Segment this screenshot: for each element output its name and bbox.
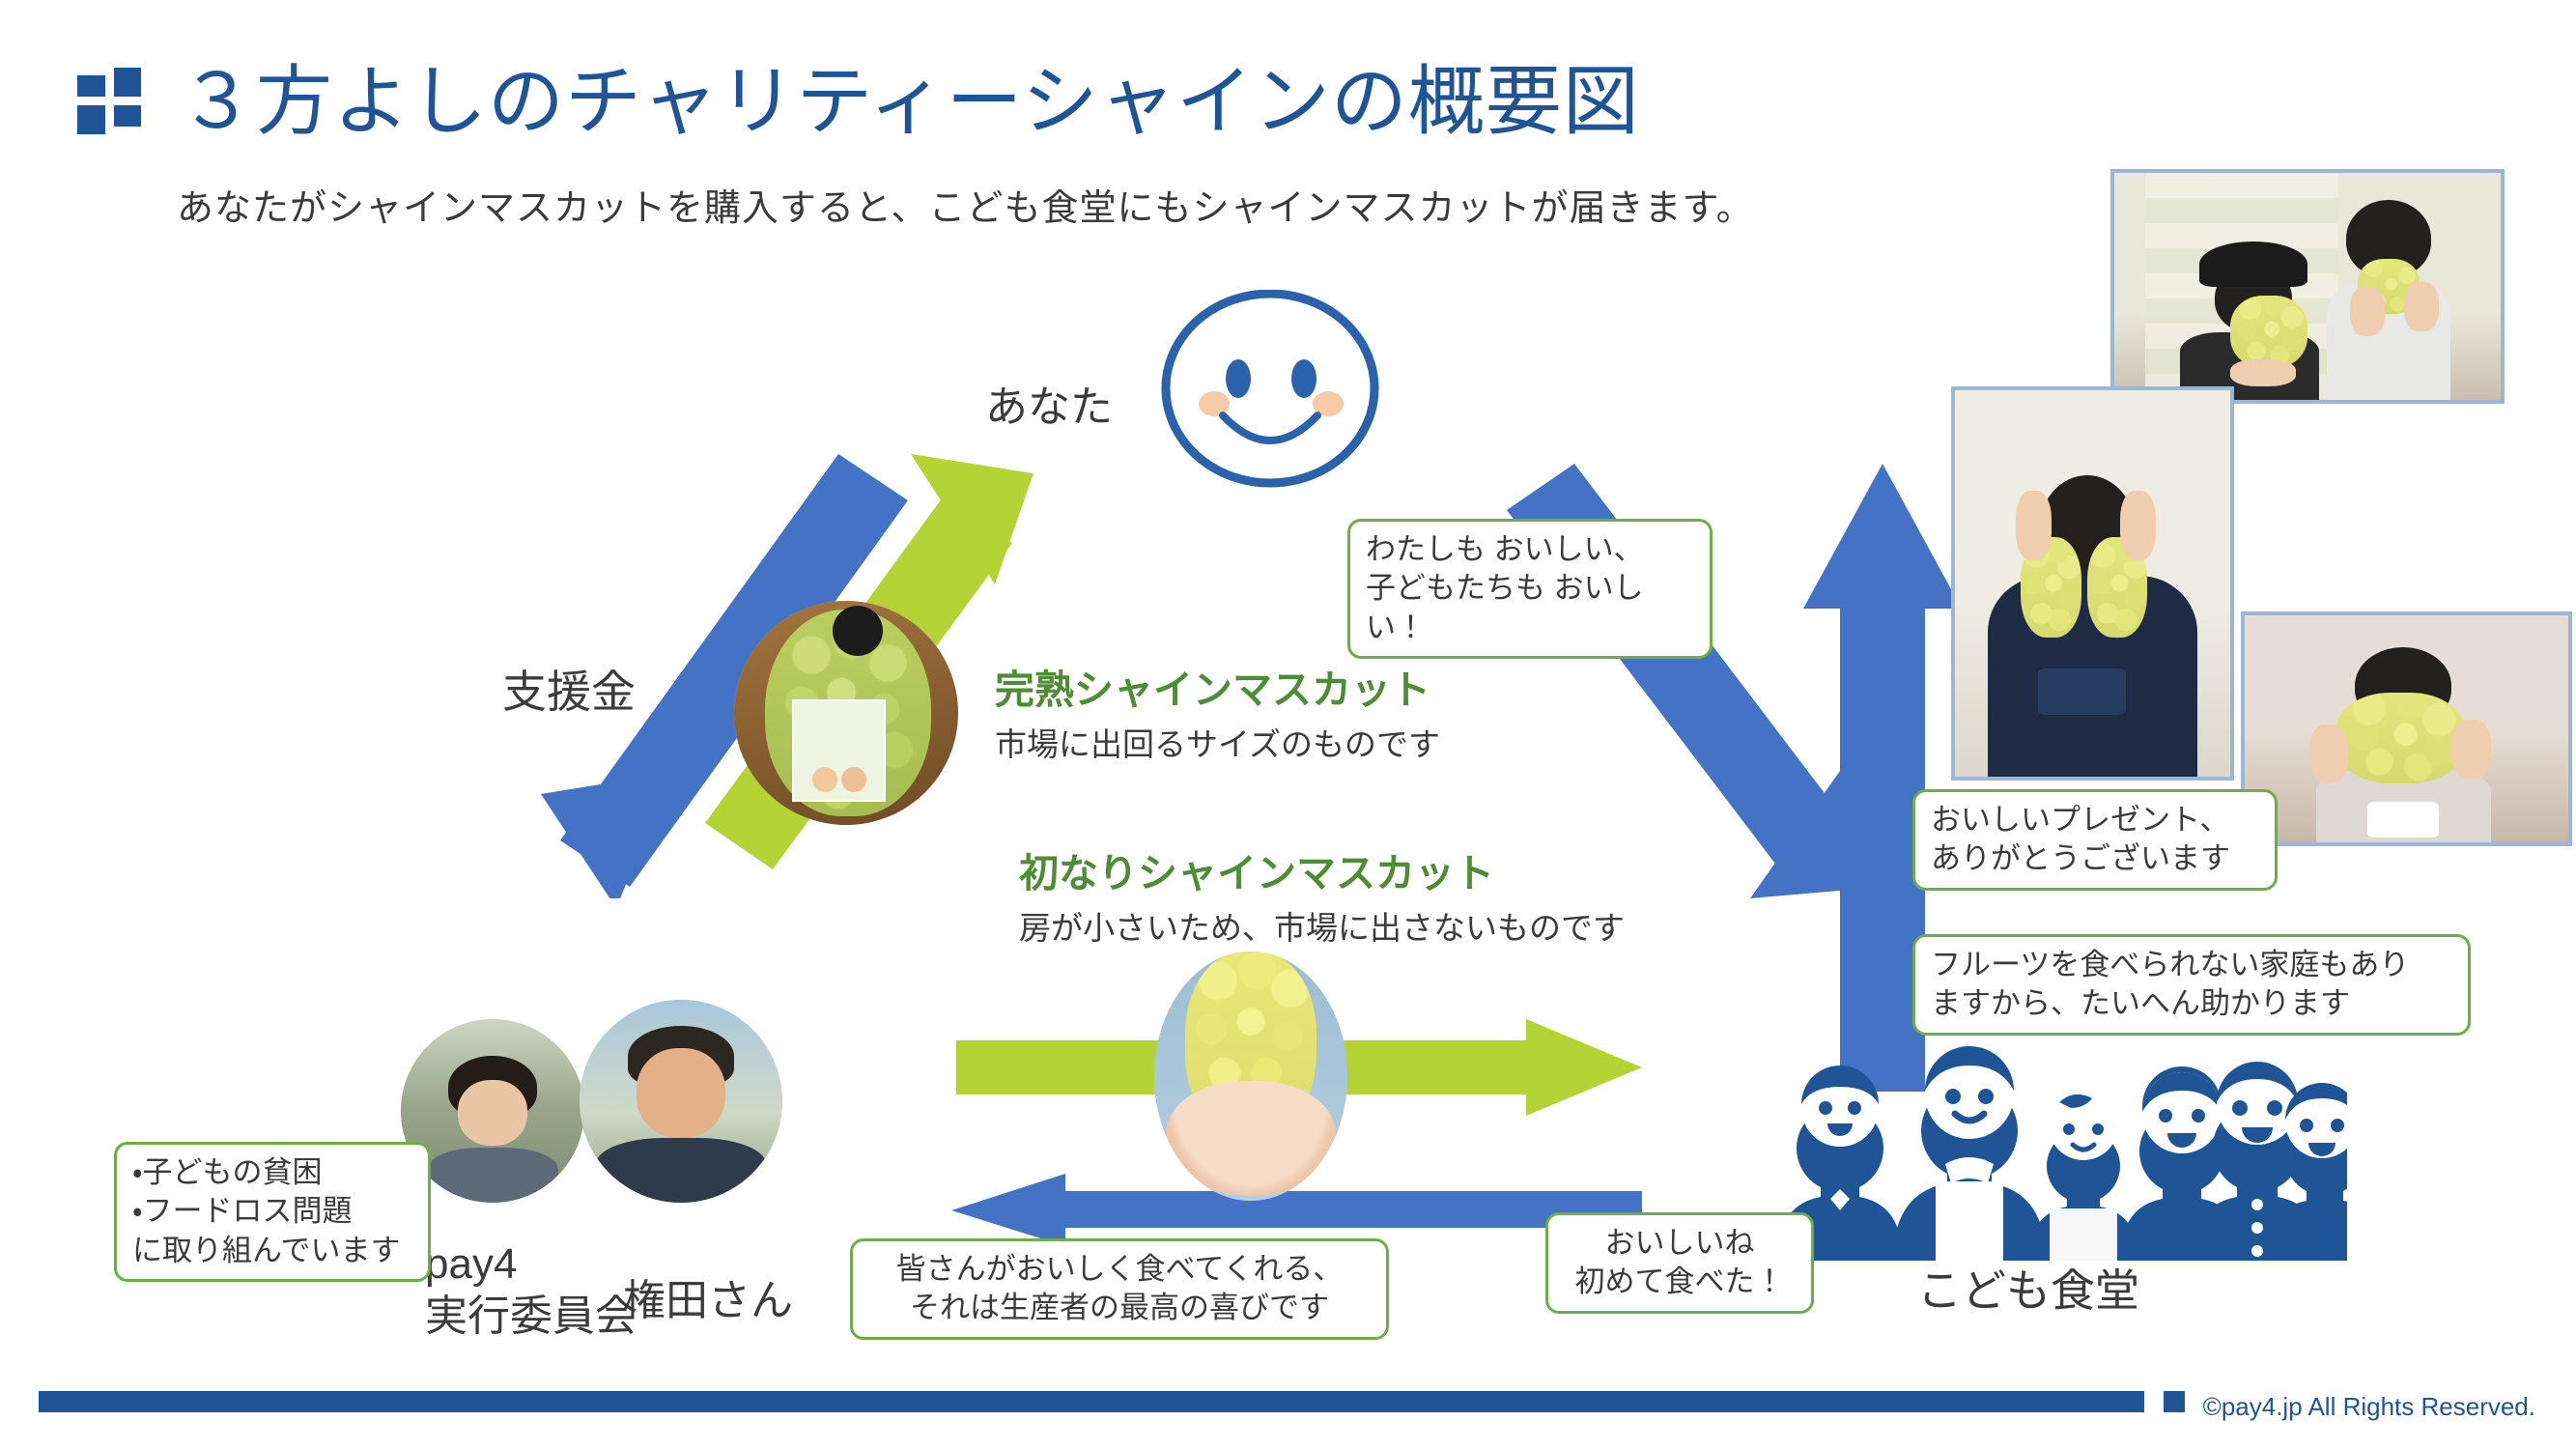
- product-title: 初なりシャインマスカット: [1019, 840, 1625, 898]
- smiley-face-icon: [1159, 290, 1381, 488]
- speech-bubble-kids: おいしいね 初めて食べた！: [1545, 1212, 1814, 1314]
- photo-kids-a: [2110, 169, 2505, 404]
- product-description: 房が小さいため、市場に出さないものです: [1019, 902, 1625, 949]
- page-title: ３方よしのチャリティーシャインの概要図: [179, 39, 1640, 150]
- slide-canvas: ３方よしのチャリティーシャインの概要図 あなたがシャインマスカットを購入すると、…: [0, 0, 2576, 1449]
- kodomo-shokudo-people-icon: [1739, 1019, 2347, 1261]
- first-muscat-photo: [1154, 952, 1347, 1201]
- photo-kids-b: [1951, 386, 2234, 781]
- footer-bar: [39, 1391, 2144, 1412]
- ripe-muscat-photo: [734, 601, 958, 825]
- product-first-muscat: 初なりシャインマスカット 房が小さいため、市場に出さないものです: [1019, 840, 1625, 949]
- speech-bubble-you-voice: わたしも おいしい、 子どもたちも おいしい！: [1347, 519, 1713, 659]
- page-subtitle: あなたがシャインマスカットを購入すると、こども食堂にもシャインマスカットが届きま…: [177, 178, 1754, 231]
- product-ripe-muscat: 完熟シャインマスカット 市場に出回るサイズのものです: [995, 657, 1440, 765]
- grid-squares-icon: [77, 68, 141, 131]
- product-description: 市場に出回るサイズのものです: [995, 719, 1440, 765]
- speech-bubble-producer: 皆さんがおいしく食べてくれる、 それは生産者の最高の喜びです: [850, 1238, 1389, 1340]
- gonda-label: 権田さん: [623, 1265, 793, 1327]
- donation-label: 支援金: [502, 657, 636, 721]
- speech-bubble-family: フルーツを食べられない家庭もあり ますから、たいへん助かります: [1912, 934, 2471, 1036]
- pay4-label: pay4 実行委員会: [425, 1238, 637, 1342]
- avatar-gonda: [580, 1000, 782, 1203]
- product-title: 完熟シャインマスカット: [995, 657, 1440, 715]
- photo-kids-c: [2241, 611, 2572, 846]
- kodomo-shokudo-label: こども食堂: [1917, 1256, 2139, 1320]
- speech-bubble-thanks: おいしいプレゼント、 ありがとうございます: [1912, 789, 2278, 891]
- footer-accent-square: [2164, 1391, 2185, 1412]
- copyright-text: ©pay4.jp All Rights Reserved.: [2203, 1392, 2535, 1422]
- speech-bubble-mission: ・子どもの貧困 ・フードロス問題 に取り組んでいます: [114, 1142, 431, 1282]
- you-label: あなた: [985, 372, 1113, 434]
